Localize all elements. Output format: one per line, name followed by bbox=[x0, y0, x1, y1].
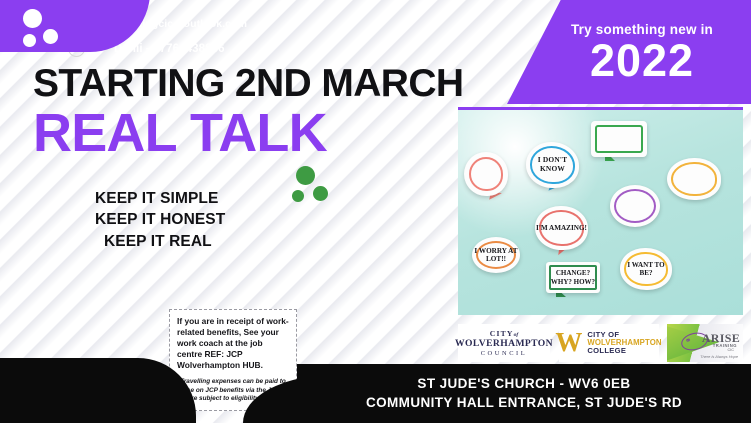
council-logo-line1: CITYof bbox=[490, 329, 518, 338]
tagline-list: KEEP IT SIMPLE KEEP IT HONEST KEEP IT RE… bbox=[95, 188, 225, 252]
bubble-i-dont-know: I DON'T KNOW bbox=[526, 142, 579, 188]
council-logo-line2: WOLVERHAMPTON bbox=[455, 338, 553, 349]
bubble-change-why-how: CHANGE? WHY? HOW? bbox=[546, 262, 600, 293]
logo-arise-training: ⚭ ARISE TRAINING CIC There Is Always Hop… bbox=[667, 324, 743, 362]
logo-wolverhampton-council: CITYof WOLVERHAMPTON COUNCIL bbox=[458, 324, 550, 362]
bubble-text: I WANT TO BE? bbox=[620, 248, 672, 290]
address-line1: ST JUDE'S CHURCH - WV6 0EB bbox=[417, 375, 630, 393]
logo-wolverhampton-college: W CITY OF WOLVERHAMPTON COLLEGE bbox=[559, 324, 659, 362]
bubble-text: I DON'T KNOW bbox=[526, 142, 579, 188]
tagline-item: KEEP IT SIMPLE bbox=[95, 188, 225, 209]
speech-bubbles-photo: I DON'T KNOW I'M AMAZING! I bbox=[458, 107, 743, 315]
bubble-i-worry-a-lot: I WORRY AT LOT!! bbox=[472, 237, 520, 273]
bubble-outline bbox=[671, 162, 717, 196]
address-bar: ST JUDE'S CHURCH - WV6 0EB COMMUNITY HAL… bbox=[297, 364, 751, 423]
address-line2: COMMUNITY HALL ENTRANCE, ST JUDE'S RD bbox=[366, 394, 682, 412]
decorative-green-dot bbox=[296, 166, 315, 185]
bubble-outline bbox=[469, 157, 503, 191]
college-w-mark: W bbox=[555, 332, 582, 354]
bubble-i-want-to-be: I WANT TO BE? bbox=[620, 248, 672, 290]
arise-logo-tagline: There Is Always Hope bbox=[700, 354, 738, 359]
bubble-outline bbox=[614, 189, 656, 223]
arise-logo-cic: CIC bbox=[727, 348, 734, 352]
bubble-blank-red bbox=[464, 152, 508, 196]
decorative-dot bbox=[43, 29, 58, 44]
benefits-info-text: If you are in receipt of work-related be… bbox=[177, 316, 289, 371]
council-logo-line3: COUNCIL bbox=[481, 350, 528, 357]
tagline-item: KEEP IT REAL bbox=[95, 231, 225, 252]
bubble-blank-purple bbox=[610, 185, 660, 227]
bubble-im-amazing: I'M AMAZING! bbox=[535, 206, 588, 250]
banner-year: 2022 bbox=[590, 38, 694, 83]
contact-block bbox=[0, 358, 196, 423]
bubble-blank-green bbox=[591, 121, 647, 157]
bubble-text: CHANGE? WHY? HOW? bbox=[546, 262, 600, 293]
bubble-text: I'M AMAZING! bbox=[535, 206, 588, 250]
decorative-green-dot bbox=[292, 190, 304, 202]
college-logo-line3: COLLEGE bbox=[587, 347, 661, 355]
bubble-text: I WORRY AT LOT!! bbox=[472, 237, 520, 273]
bubble-outline bbox=[595, 125, 643, 153]
poster-canvas: Try something new in 2022 STARTING 2ND M… bbox=[0, 0, 751, 423]
tagline-item: KEEP IT HONEST bbox=[95, 209, 225, 230]
partner-logo-strip: CITYof WOLVERHAMPTON COUNCIL W CITY OF W… bbox=[458, 322, 743, 364]
college-logo-text: CITY OF WOLVERHAMPTON COLLEGE bbox=[587, 331, 661, 355]
headline-primary: STARTING 2ND MARCH bbox=[33, 62, 463, 106]
bubble-blank-amber bbox=[667, 158, 721, 200]
decorative-dot bbox=[23, 34, 36, 47]
decorative-dot bbox=[23, 9, 42, 28]
headline-secondary: REAL TALK bbox=[33, 106, 327, 160]
decorative-green-dot bbox=[313, 186, 328, 201]
